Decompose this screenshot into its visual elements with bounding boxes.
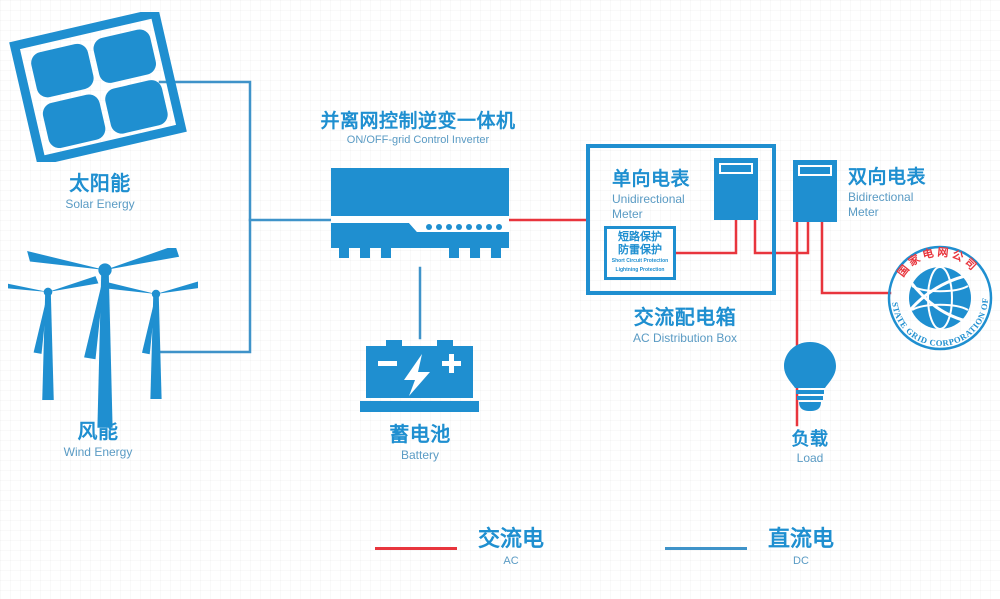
label-inverter-cn: 并离网控制逆变一体机 <box>318 110 518 134</box>
label-load-cn: 负载 <box>758 428 862 451</box>
protection-en-line2: Lightning Protection <box>607 267 673 274</box>
label-wind-energy: 风能 Wind Energy <box>38 420 158 460</box>
unidirectional-meter-icon <box>714 158 758 220</box>
label-bidirectional-meter: 双向电表 Bidirectional Meter <box>848 166 958 220</box>
protection-cn-line2: 防雷保护 <box>607 244 673 257</box>
legend-ac-en: AC <box>471 553 551 571</box>
protection-en-line1: Short Circuit Protection <box>607 258 673 265</box>
label-battery-cn: 蓄电池 <box>360 423 480 448</box>
legend-dc-text: 直流电 DC <box>761 525 841 570</box>
label-bidi-en2: Meter <box>848 205 958 220</box>
legend-dc-cn: 直流电 <box>761 525 841 553</box>
label-battery: 蓄电池 Battery <box>360 423 480 463</box>
solar-panel-icon <box>8 12 188 162</box>
label-uni-en2: Meter <box>612 207 712 222</box>
protection-box: 短路保护 防雷保护 Short Circuit Protection Light… <box>604 226 676 280</box>
diagram-canvas: 短路保护 防雷保护 Short Circuit Protection Light… <box>0 0 1000 599</box>
legend-dc-line <box>665 547 747 550</box>
legend: 交流电 AC 直流电 DC <box>0 525 1000 595</box>
label-battery-en: Battery <box>360 448 480 463</box>
label-acbox-en: AC Distribution Box <box>610 331 760 346</box>
meter-display <box>719 163 753 174</box>
legend-ac-cn: 交流电 <box>471 525 551 553</box>
label-bidi-en1: Bidirectional <box>848 190 958 205</box>
legend-ac-line <box>375 547 457 550</box>
inverter-icon <box>331 168 509 266</box>
protection-cn-line1: 短路保护 <box>607 231 673 244</box>
legend-dc-en: DC <box>761 553 841 571</box>
label-inverter: 并离网控制逆变一体机 ON/OFF-grid Control Inverter <box>318 110 518 148</box>
battery-icon <box>352 336 487 414</box>
ac-wire-bidimeter-to-grid <box>822 222 890 293</box>
label-wind-en: Wind Energy <box>38 445 158 460</box>
label-load: 负载 Load <box>758 428 862 466</box>
label-uni-cn: 单向电表 <box>612 168 712 192</box>
meter-display <box>798 165 832 176</box>
light-bulb-icon <box>783 340 837 412</box>
label-acbox-cn: 交流配电箱 <box>610 306 760 331</box>
legend-ac-text: 交流电 AC <box>471 525 551 570</box>
label-solar-en: Solar Energy <box>40 197 160 212</box>
label-solar-cn: 太阳能 <box>40 172 160 197</box>
bidirectional-meter-icon <box>793 160 837 222</box>
label-unidirectional-meter: 单向电表 Unidirectional Meter <box>612 168 712 222</box>
label-ac-distribution-box: 交流配电箱 AC Distribution Box <box>610 306 760 346</box>
label-load-en: Load <box>758 451 862 466</box>
label-wind-cn: 风能 <box>38 420 158 445</box>
state-grid-logo-icon: 国家电网公司 STATE GRID CORPORATION OF CHINA <box>882 240 998 356</box>
label-bidi-cn: 双向电表 <box>848 166 958 190</box>
label-inverter-en: ON/OFF-grid Control Inverter <box>318 134 518 148</box>
label-solar-energy: 太阳能 Solar Energy <box>40 172 160 212</box>
label-uni-en1: Unidirectional <box>612 192 712 207</box>
wind-turbine-icon <box>8 248 198 433</box>
